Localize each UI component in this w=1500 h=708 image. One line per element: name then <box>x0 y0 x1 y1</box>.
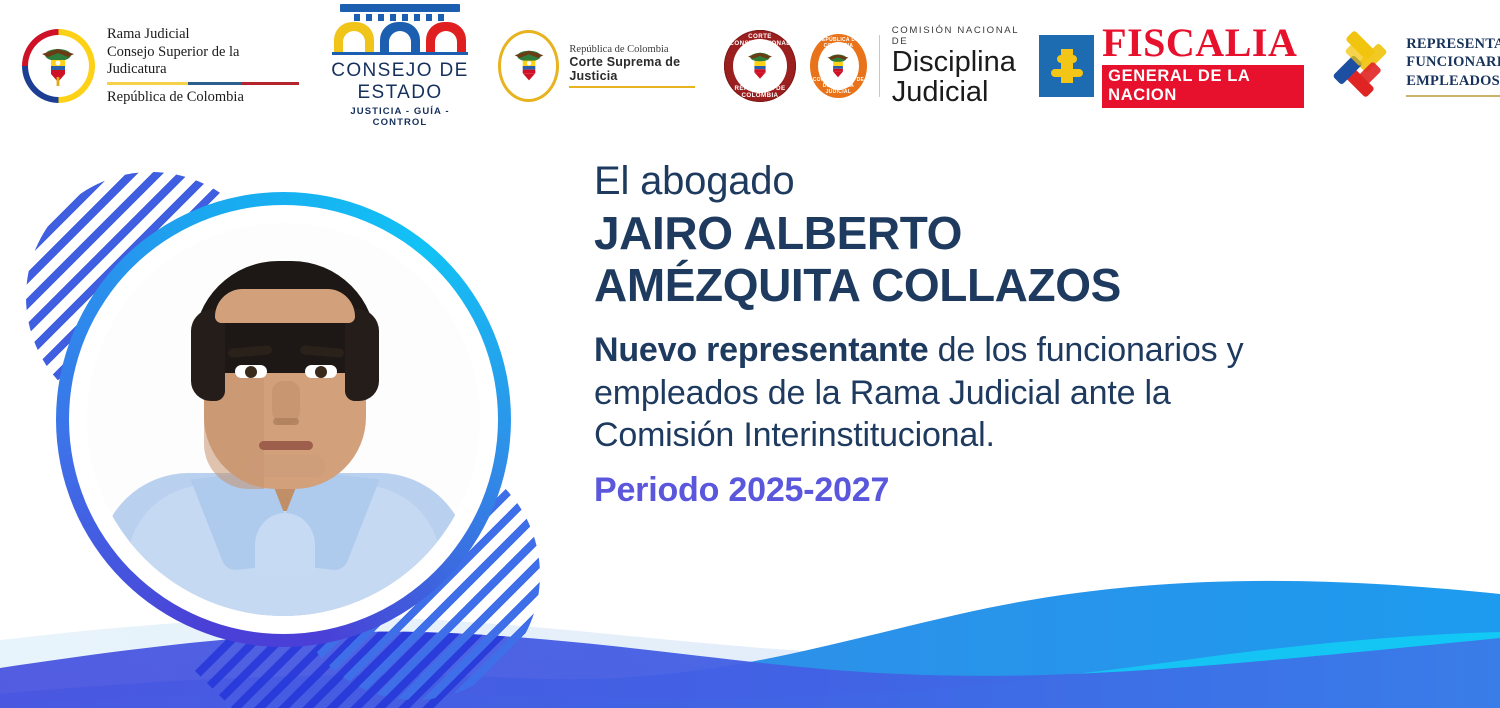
person-name-line1: JAIRO ALBERTO <box>594 208 1244 260</box>
cndj-line1: COMISIÓN NACIONAL DE <box>892 25 1023 47</box>
fiscalia-puzzle-icon <box>1039 35 1094 97</box>
logo-representante-funcionarios: REPRESENTANTE DE FUNCIONARIOS Y EMPLEADO… <box>1324 16 1500 116</box>
logo-rama-judicial: Rama Judicial Consejo Superior de la Jud… <box>22 16 300 116</box>
consejo-estado-name: CONSEJO DE ESTADO <box>326 60 474 104</box>
corte-suprema-line2: Corte Suprema de Justicia <box>569 55 706 83</box>
representante-underline <box>1406 95 1500 97</box>
portrait-photo <box>87 223 480 616</box>
palace-building-icon <box>326 4 474 52</box>
corte-suprema-seal-icon <box>498 30 559 102</box>
corte-constitucional-arc-top: CORTE CONSTITUCIONAL <box>724 33 796 47</box>
rama-judicial-line2: Consejo Superior de la Judicatura <box>107 44 300 79</box>
announcement-text-block: El abogado JAIRO ALBERTO AMÉZQUITA COLLA… <box>594 160 1244 510</box>
corte-constitucional-seal-icon: CORTE CONSTITUCIONAL REPÚBLICA DE COLOMB… <box>724 30 796 102</box>
cndj-line3: Judicial <box>892 77 1023 107</box>
avatar <box>87 223 480 616</box>
colombia-coat-of-arms-icon <box>22 29 95 103</box>
representante-line3: EMPLEADOS JUDICIALES <box>1406 72 1500 90</box>
representante-line1: REPRESENTANTE DE <box>1406 35 1500 53</box>
announcement-kicker: El abogado <box>594 160 1244 202</box>
period-badge: Periodo 2025-2027 <box>594 471 1244 510</box>
cndj-seal-icon: REPÚBLICA DE COLOMBIA COMISIÓN NAL. DE D… <box>810 34 867 98</box>
fiscalia-line1: FISCALIA <box>1102 24 1304 62</box>
corte-suprema-underline <box>569 86 695 88</box>
logo-corte-suprema-de-justicia: República de Colombia Corte Suprema de J… <box>498 16 706 116</box>
logo-comision-nacional-disciplina-judicial: REPÚBLICA DE COLOMBIA COMISIÓN NAL. DE D… <box>810 16 1023 116</box>
consejo-estado-tagline: JUSTICIA - GUÍA - CONTROL <box>326 106 474 128</box>
cndj-vertical-divider <box>879 35 880 97</box>
announcement-description: Nuevo representante de los funcionarios … <box>594 329 1244 457</box>
logo-corte-constitucional: CORTE CONSTITUCIONAL REPÚBLICA DE COLOMB… <box>724 16 796 116</box>
colombia-flag-divider <box>107 82 299 85</box>
logo-consejo-de-estado: CONSEJO DE ESTADO JUSTICIA - GUÍA - CONT… <box>326 16 474 116</box>
fiscalia-line2: GENERAL DE LA NACION <box>1102 65 1304 108</box>
four-hands-icon <box>1324 28 1396 105</box>
rama-judicial-line3: República de Colombia <box>107 89 300 106</box>
institutional-logo-bar: Rama Judicial Consejo Superior de la Jud… <box>0 0 1500 132</box>
representante-line2: FUNCIONARIOS Y <box>1406 53 1500 71</box>
description-emphasis: Nuevo representante <box>594 331 928 369</box>
cndj-line2: Disciplina <box>892 48 1023 77</box>
rama-judicial-line1: Rama Judicial <box>107 26 300 44</box>
representante-text-block: REPRESENTANTE DE FUNCIONARIOS Y EMPLEADO… <box>1406 35 1500 96</box>
fiscalia-text-block: FISCALIA GENERAL DE LA NACION <box>1102 24 1304 108</box>
page-title: JAIRO ALBERTO AMÉZQUITA COLLAZOS <box>594 208 1244 311</box>
rama-judicial-text-block: Rama Judicial Consejo Superior de la Jud… <box>107 26 300 106</box>
cndj-text-block: COMISIÓN NACIONAL DE Disciplina Judicial <box>892 25 1023 107</box>
logo-fiscalia-general-de-la-nacion: FISCALIA GENERAL DE LA NACION <box>1039 16 1304 116</box>
corte-suprema-line1: República de Colombia <box>569 44 706 55</box>
corte-constitucional-arc-bottom: REPÚBLICA DE COLOMBIA <box>724 85 796 99</box>
banner-canvas: Rama Judicial Consejo Superior de la Jud… <box>0 0 1500 708</box>
portrait-composition <box>8 150 548 620</box>
corte-suprema-text-block: República de Colombia Corte Suprema de J… <box>569 44 706 88</box>
person-name-line2: AMÉZQUITA COLLAZOS <box>594 260 1244 312</box>
cndj-arc-top: REPÚBLICA DE COLOMBIA <box>810 37 867 49</box>
